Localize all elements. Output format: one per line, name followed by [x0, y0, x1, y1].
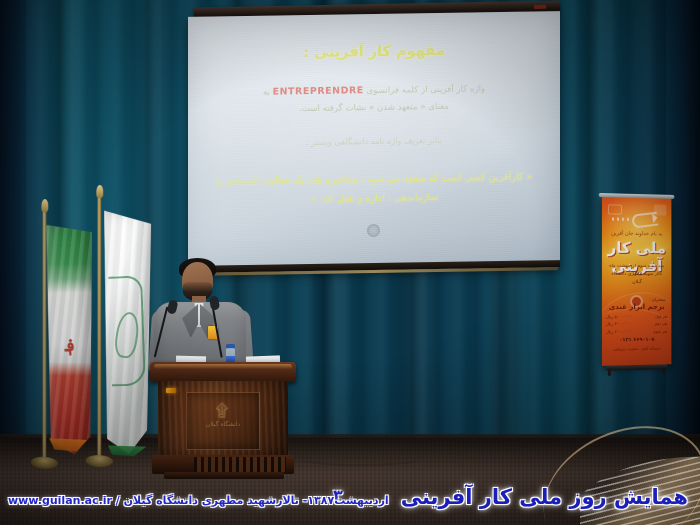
banner-prize-label: نفر اول: [655, 313, 667, 320]
slide-line-1: واژه کار آفرینی از کلمه فرانسوی ENTREPRE…: [210, 79, 538, 118]
iran-flag-finial: [41, 199, 48, 212]
floor-cable: [300, 452, 420, 466]
left-wall-column: [0, 0, 26, 470]
podium-top: [150, 362, 296, 382]
banner-speaker-name: برجم ابراز غندی: [602, 303, 671, 311]
university-flag-pole: [97, 197, 101, 457]
university-flag-trim: [106, 445, 148, 456]
banner-leg-right: [663, 367, 666, 374]
podium-indicator-light: [166, 388, 176, 393]
banner-stand-base: [606, 364, 668, 370]
podium: ۩ دانشگاه گیلان: [150, 362, 296, 480]
screen-roller-cap: [534, 5, 546, 9]
podium-emblem-text: دانشگاه گیلان: [190, 420, 256, 429]
banner-phone: ۰۱۳۱ ۶۶۹۰۱۰۸: [602, 336, 671, 343]
projection-screen: مفهوم کار آفرینی : واژه کار آفرینی از کل…: [188, 4, 560, 270]
podium-speaker-grill: [194, 457, 286, 472]
iran-flag: ؋: [40, 213, 92, 459]
podium-top-highlight: [154, 364, 292, 369]
slide-quote: « کارآفرین کسی است که متعهد می شود ، مخا…: [210, 168, 538, 212]
banner-speaker-label: سخنران :: [649, 297, 665, 302]
presentation-slide: مفهوم کار آفرینی : واژه کار آفرینی از کل…: [188, 11, 560, 273]
banner-eyebrow: به نام خداوند جان آفرین: [602, 230, 671, 237]
photograph-stage: مفهوم کار آفرینی : واژه کار آفرینی از کل…: [0, 0, 700, 525]
banner-prize-row: نفر سوم ۲٬۰۰۰٬۰۰۰ ریال: [606, 327, 668, 335]
rollup-banner: به نام خداوند جان آفرین ملی کار آفرینی س…: [602, 196, 671, 374]
iran-flag-trim: [48, 438, 88, 452]
podium-foot: [164, 472, 284, 479]
banner-logo-left-icon: [608, 204, 622, 214]
iran-flag-emblem-icon: ؋: [60, 334, 80, 358]
slide-line-1-before: واژه کار آفرینی از کلمه فرانسوی: [367, 84, 486, 96]
screen-surface: مفهوم کار آفرینی : واژه کار آفرینی از کل…: [188, 11, 560, 273]
banner-subtitle-2: تالار شهید مطهری دانشگاه گیلان: [602, 271, 671, 287]
slide-title: مفهوم کار آفرینی :: [210, 41, 538, 62]
iran-flag-pole: [42, 211, 46, 459]
slide-line-3: بنابر تعریف واژه نامه دانشگاهی وبستر :: [210, 134, 538, 149]
slide-term-entreprendre: ENTREPRENDRE: [273, 85, 364, 97]
slide-line-2: معنای « متعهد شدن » نشات گرفته است.: [210, 97, 538, 118]
banner-prize-value: ۲٬۰۰۰٬۰۰۰ ریال: [606, 328, 632, 336]
banner-prize-rows: نفر اول ۵٬۰۰۰٬۰۰۰ ریال نفر دوم ۳٬۰۰۰٬۰۰۰…: [606, 313, 668, 336]
slide-line-1-after: به: [263, 88, 270, 98]
banner-dots-decoration: [612, 218, 632, 221]
banner-arrow-icon: [631, 212, 658, 229]
banner-leg-left: [608, 369, 611, 376]
university-flag: [96, 201, 154, 461]
banner-prize-label: نفر سوم: [653, 327, 667, 335]
projector-hotspot: [367, 224, 380, 237]
university-flag-finial: [96, 185, 103, 198]
podium-emblem-icon: ۩: [198, 400, 246, 422]
banner-sheet: به نام خداوند جان آفرین ملی کار آفرینی س…: [602, 196, 671, 366]
